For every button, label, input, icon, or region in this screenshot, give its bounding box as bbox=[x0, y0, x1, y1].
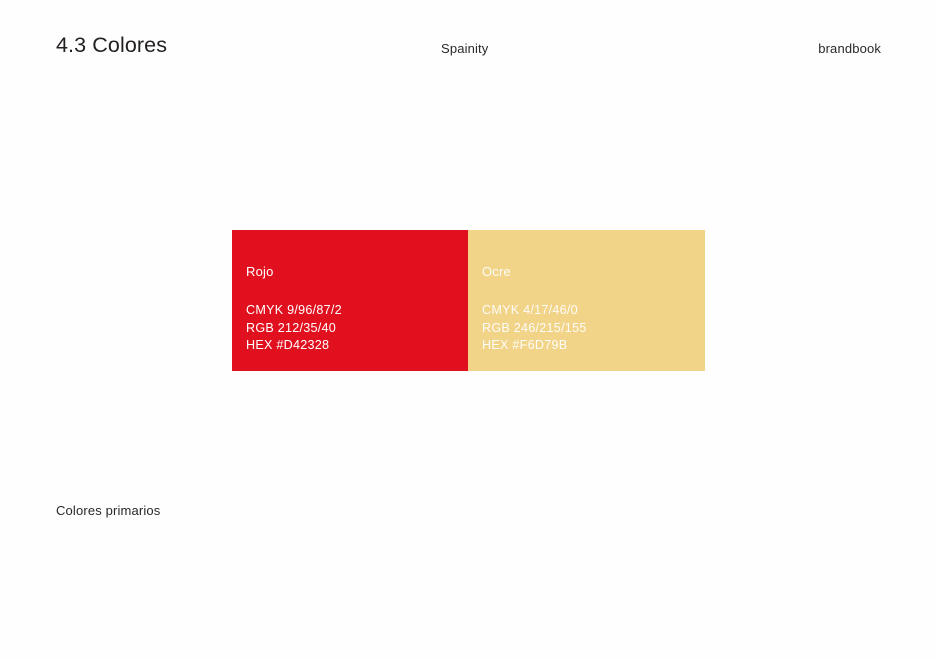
color-swatch-specs: CMYK 9/96/87/2 RGB 212/35/40 HEX #D42328 bbox=[246, 302, 342, 355]
color-swatch-specs: CMYK 4/17/46/0 RGB 246/215/155 HEX #F6D7… bbox=[482, 302, 587, 355]
color-swatch-hex: HEX #F6D79B bbox=[482, 337, 587, 355]
color-swatch-rgb: RGB 246/215/155 bbox=[482, 320, 587, 338]
color-swatch-name: Rojo bbox=[246, 264, 274, 280]
color-swatch-rgb: RGB 212/35/40 bbox=[246, 320, 342, 338]
brand-name: Spainity bbox=[441, 41, 488, 57]
color-swatch-hex: HEX #D42328 bbox=[246, 337, 342, 355]
color-swatch-name: Ocre bbox=[482, 264, 511, 280]
page-header: 4.3 Colores Spainity brandbook bbox=[0, 0, 936, 90]
color-swatch-cmyk: CMYK 9/96/87/2 bbox=[246, 302, 342, 320]
color-swatch-rojo: Rojo CMYK 9/96/87/2 RGB 212/35/40 HEX #D… bbox=[232, 230, 468, 371]
page-title: 4.3 Colores bbox=[56, 33, 167, 59]
brandbook-page: 4.3 Colores Spainity brandbook Rojo CMYK… bbox=[0, 0, 936, 660]
document-label: brandbook bbox=[818, 41, 881, 57]
color-swatch-cmyk: CMYK 4/17/46/0 bbox=[482, 302, 587, 320]
color-palette: Rojo CMYK 9/96/87/2 RGB 212/35/40 HEX #D… bbox=[232, 230, 705, 371]
color-swatch-ocre: Ocre CMYK 4/17/46/0 RGB 246/215/155 HEX … bbox=[468, 230, 705, 371]
palette-caption: Colores primarios bbox=[56, 503, 160, 519]
